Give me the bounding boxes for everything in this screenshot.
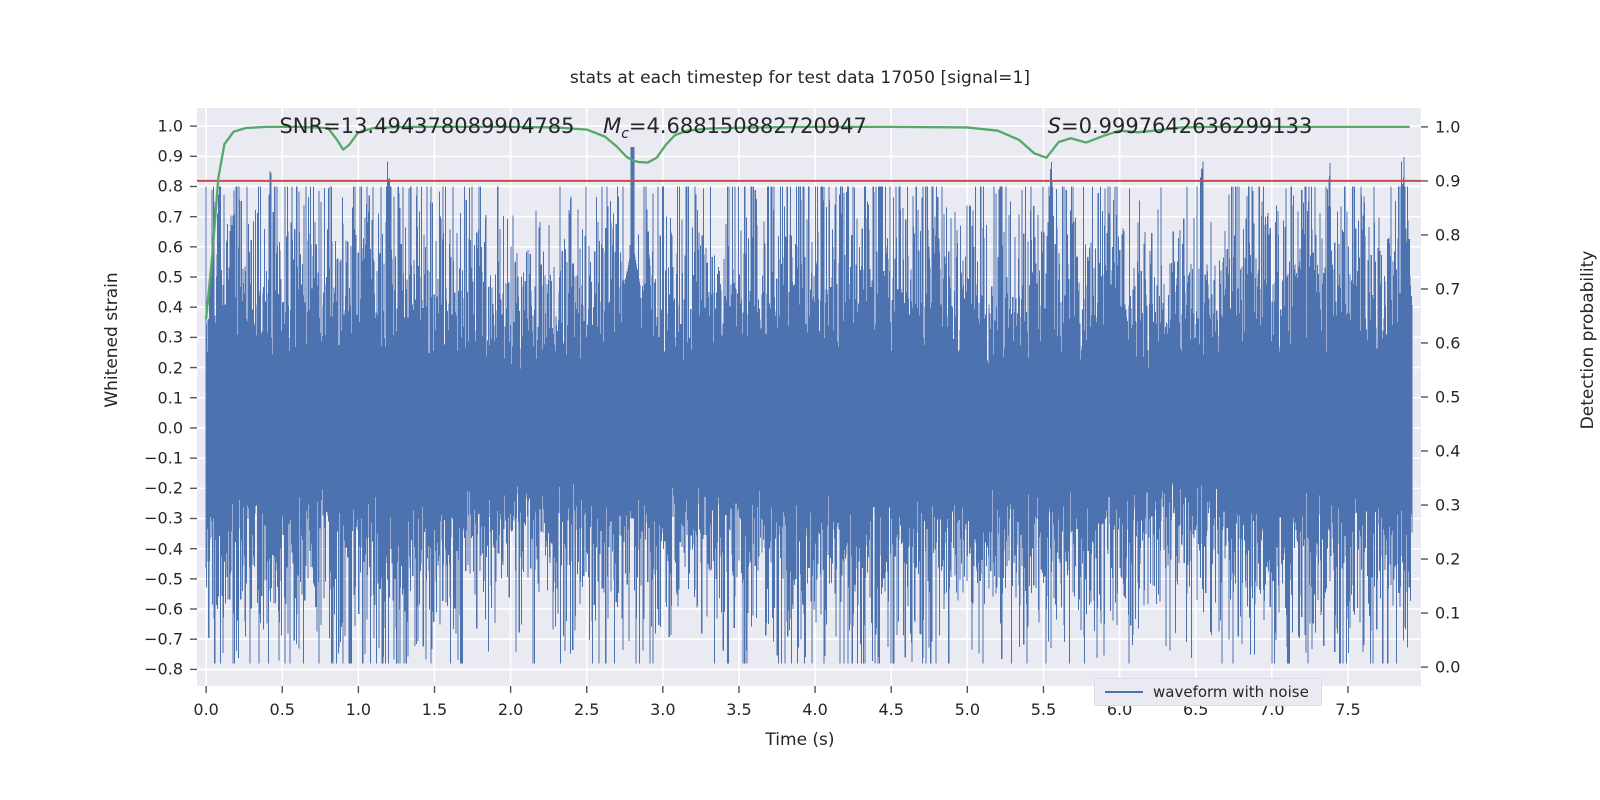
x-tick-15: 7.5 bbox=[1335, 700, 1360, 719]
y-tick-right-4: 0.6 bbox=[1435, 333, 1460, 352]
y-tick-left-17: −0.7 bbox=[131, 630, 183, 649]
y-tick-right-5: 0.5 bbox=[1435, 388, 1460, 407]
x-tick-0: 0.0 bbox=[193, 700, 218, 719]
x-axis-label: Time (s) bbox=[0, 730, 1600, 750]
x-tick-4: 2.0 bbox=[498, 700, 523, 719]
chart-title: stats at each timestep for test data 170… bbox=[0, 68, 1600, 88]
x-tick-8: 4.0 bbox=[802, 700, 827, 719]
x-tick-11: 5.5 bbox=[1031, 700, 1056, 719]
figure-canvas: stats at each timestep for test data 170… bbox=[0, 0, 1600, 800]
y-tick-left-3: 0.7 bbox=[131, 207, 183, 226]
x-tick-7: 3.5 bbox=[726, 700, 751, 719]
waveform-series bbox=[206, 147, 1412, 663]
y-tick-left-4: 0.6 bbox=[131, 237, 183, 256]
annotation-mc: Mc=4.688150882720947 bbox=[603, 114, 867, 142]
legend-label-waveform: waveform with noise bbox=[1153, 683, 1309, 701]
x-tick-10: 5.0 bbox=[955, 700, 980, 719]
y-axis-label-left: Whitened strain bbox=[102, 210, 122, 470]
y-tick-left-8: 0.2 bbox=[131, 358, 183, 377]
y-tick-left-5: 0.5 bbox=[131, 268, 183, 287]
y-tick-left-16: −0.6 bbox=[131, 600, 183, 619]
y-tick-right-0: 1.0 bbox=[1435, 117, 1460, 136]
y-tick-right-6: 0.4 bbox=[1435, 442, 1460, 461]
y-tick-right-10: 0.0 bbox=[1435, 658, 1460, 677]
y-tick-left-2: 0.8 bbox=[131, 177, 183, 196]
y-tick-left-9: 0.1 bbox=[131, 388, 183, 407]
y-tick-left-13: −0.3 bbox=[131, 509, 183, 528]
legend-swatch-waveform bbox=[1105, 691, 1143, 693]
y-tick-left-11: −0.1 bbox=[131, 449, 183, 468]
y-tick-left-18: −0.8 bbox=[131, 660, 183, 679]
y-tick-left-14: −0.4 bbox=[131, 539, 183, 558]
y-tick-right-9: 0.1 bbox=[1435, 604, 1460, 623]
x-tick-6: 3.0 bbox=[650, 700, 675, 719]
y-axis-label-right: Detection probability bbox=[1578, 210, 1598, 470]
annotation-s: S=0.9997642636299133 bbox=[1048, 114, 1313, 138]
x-tick-9: 4.5 bbox=[878, 700, 903, 719]
y-tick-right-1: 0.9 bbox=[1435, 171, 1460, 190]
y-tick-right-3: 0.7 bbox=[1435, 279, 1460, 298]
x-tick-2: 1.0 bbox=[346, 700, 371, 719]
y-tick-left-6: 0.4 bbox=[131, 298, 183, 317]
y-tick-left-10: 0.0 bbox=[131, 418, 183, 437]
y-tick-right-8: 0.2 bbox=[1435, 550, 1460, 569]
y-tick-right-7: 0.3 bbox=[1435, 496, 1460, 515]
annotation-snr: SNR=13.494378089904785 bbox=[279, 114, 574, 138]
y-tick-left-1: 0.9 bbox=[131, 147, 183, 166]
y-tick-right-2: 0.8 bbox=[1435, 225, 1460, 244]
y-tick-left-0: 1.0 bbox=[131, 117, 183, 136]
chart-legend: waveform with noise bbox=[1094, 678, 1322, 706]
y-tick-left-15: −0.5 bbox=[131, 569, 183, 588]
y-tick-left-7: 0.3 bbox=[131, 328, 183, 347]
x-tick-3: 1.5 bbox=[422, 700, 447, 719]
x-tick-1: 0.5 bbox=[270, 700, 295, 719]
x-tick-5: 2.5 bbox=[574, 700, 599, 719]
y-tick-left-12: −0.2 bbox=[131, 479, 183, 498]
